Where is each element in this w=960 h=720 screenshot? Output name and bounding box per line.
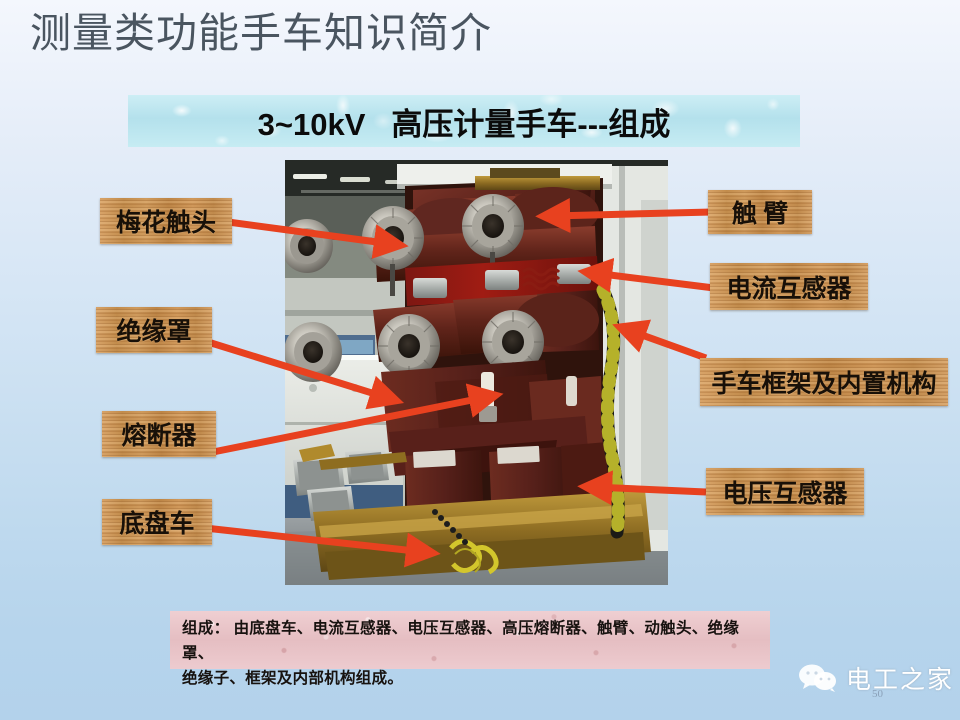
- label-text: 梅花触头: [116, 203, 216, 239]
- label-text: 熔断器: [121, 416, 196, 452]
- page-number: 50: [872, 688, 883, 700]
- label-text: 绝缘罩: [116, 312, 191, 348]
- label-plum-blossom-contact[interactable]: 梅花触头: [100, 198, 232, 244]
- page-title: 测量类功能手车知识简介: [30, 8, 492, 59]
- caption-line-1: 组成： 由底盘车、电流互感器、电压互感器、高压熔断器、触臂、动触头、绝缘罩、: [182, 616, 762, 666]
- label-truck-frame-mechanism[interactable]: 手车框架及内置机构: [700, 358, 948, 406]
- subtitle-text: 3~10kV高压计量手车---组成: [258, 99, 671, 144]
- label-voltage-transformer[interactable]: 电压互感器: [706, 468, 864, 515]
- label-text: 电流互感器: [726, 269, 851, 305]
- label-contact-arm[interactable]: 触 臂: [708, 190, 812, 234]
- watermark-text: 电工之家: [846, 660, 954, 696]
- slide-canvas: 测量类功能手车知识简介 3~10kV高压计量手车---组成: [0, 0, 960, 720]
- subtitle-voltage: 3~10kV: [258, 107, 366, 142]
- label-insulation-cover[interactable]: 绝缘罩: [96, 307, 212, 353]
- label-fuse[interactable]: 熔断器: [102, 411, 216, 457]
- caption-line-2: 绝缘子、框架及内部机构组成。: [182, 666, 762, 691]
- label-text: 触 臂: [732, 194, 788, 230]
- label-text: 电压互感器: [722, 474, 847, 510]
- label-text: 手车框架及内置机构: [711, 364, 936, 400]
- label-current-transformer[interactable]: 电流互感器: [710, 263, 868, 310]
- subtitle-body: 高压计量手车---组成: [391, 107, 670, 142]
- wechat-icon: [798, 663, 840, 693]
- composition-caption: 组成： 由底盘车、电流互感器、电压互感器、高压熔断器、触臂、动触头、绝缘罩、 绝…: [170, 611, 770, 669]
- subtitle-banner: 3~10kV高压计量手车---组成: [128, 95, 800, 147]
- label-text: 底盘车: [119, 504, 194, 540]
- metering-truck-photo: [285, 160, 668, 585]
- label-chassis-truck[interactable]: 底盘车: [102, 499, 212, 545]
